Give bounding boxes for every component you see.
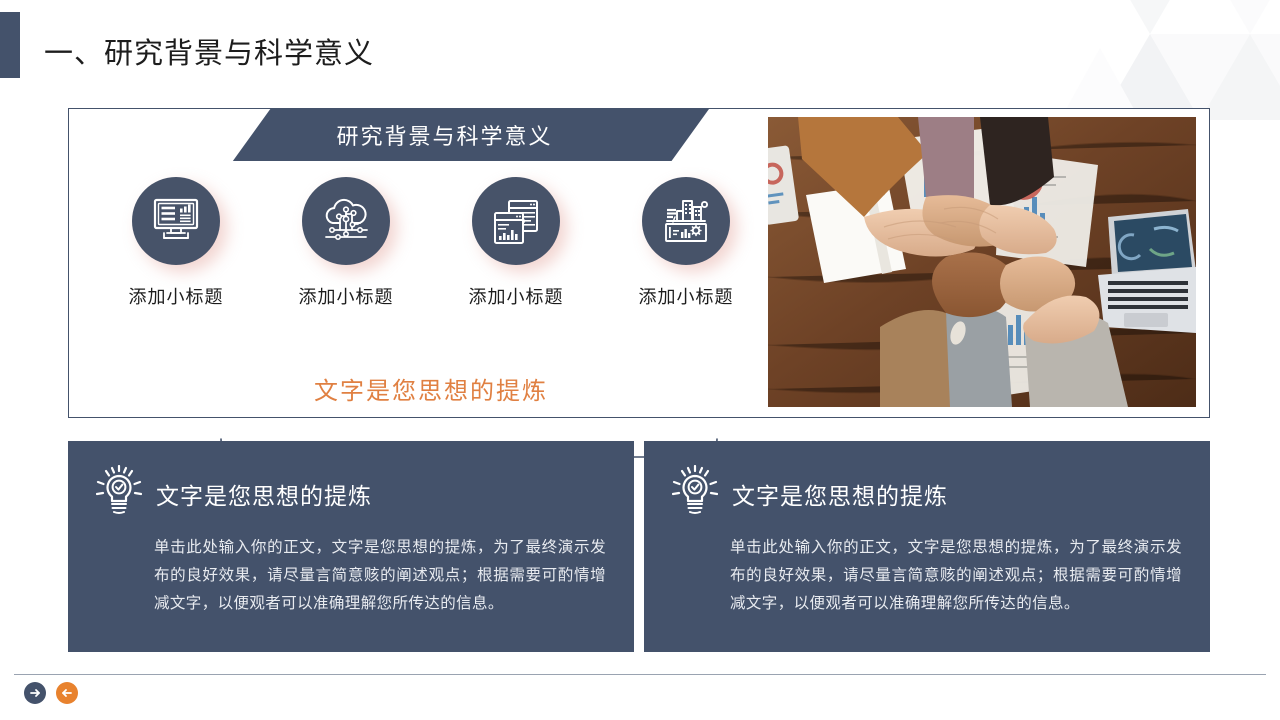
panel-banner-title: 研究背景与科学意义 — [330, 119, 552, 151]
slide-canvas: 一、研究背景与科学意义 研究背景与科学意义 — [0, 0, 1280, 720]
smart-city-gear-icon — [642, 177, 730, 265]
card-body-right: 单击此处输入你的正文，文字是您思想的提炼，为了最终演示发布的良好效果，请尽量言简… — [730, 534, 1182, 619]
arrow-right-icon[interactable] — [24, 682, 46, 704]
arrow-left-icon[interactable] — [56, 682, 78, 704]
main-content-panel: 研究背景与科学意义 — [68, 108, 1210, 418]
info-cards: 文字是您思想的提炼 单击此处输入你的正文，文字是您思想的提炼，为了最终演示发布的… — [68, 441, 1210, 652]
lightbulb-check-icon — [672, 465, 718, 522]
lightbulb-check-icon — [96, 465, 142, 522]
info-card-left: 文字是您思想的提炼 单击此处输入你的正文，文字是您思想的提炼，为了最终演示发布的… — [68, 441, 634, 652]
brace-caption: 文字是您思想的提炼 — [101, 371, 761, 406]
teamwork-photo — [768, 117, 1196, 407]
monitor-binary-chart-icon — [132, 177, 220, 265]
card-title-left: 文字是您思想的提炼 — [156, 477, 372, 511]
icon-label-1: 添加小标题 — [129, 283, 224, 309]
icon-label-2: 添加小标题 — [299, 283, 394, 309]
icon-row: 添加小标题 — [101, 177, 761, 309]
icon-item-1[interactable]: 添加小标题 — [101, 177, 251, 309]
dashboard-windows-icon — [472, 177, 560, 265]
card-body-left: 单击此处输入你的正文，文字是您思想的提炼，为了最终演示发布的良好效果，请尽量言简… — [154, 534, 606, 619]
decorative-triangles — [1040, 0, 1280, 120]
card-title-right: 文字是您思想的提炼 — [732, 477, 948, 511]
card-header-right: 文字是您思想的提炼 — [672, 465, 1182, 522]
footer-divider — [14, 674, 1266, 675]
icon-item-3[interactable]: 添加小标题 — [441, 177, 591, 309]
slide-nav — [24, 682, 78, 704]
icon-item-4[interactable]: 添加小标题 — [611, 177, 761, 309]
title-accent-bar — [0, 12, 20, 78]
panel-banner: 研究背景与科学意义 — [174, 109, 709, 161]
icon-label-3: 添加小标题 — [469, 283, 564, 309]
card-header-left: 文字是您思想的提炼 — [96, 465, 606, 522]
cloud-network-icon — [302, 177, 390, 265]
page-title: 一、研究背景与科学意义 — [44, 30, 374, 72]
icon-label-4: 添加小标题 — [639, 283, 734, 309]
icon-item-2[interactable]: 添加小标题 — [271, 177, 421, 309]
info-card-right: 文字是您思想的提炼 单击此处输入你的正文，文字是您思想的提炼，为了最终演示发布的… — [644, 441, 1210, 652]
